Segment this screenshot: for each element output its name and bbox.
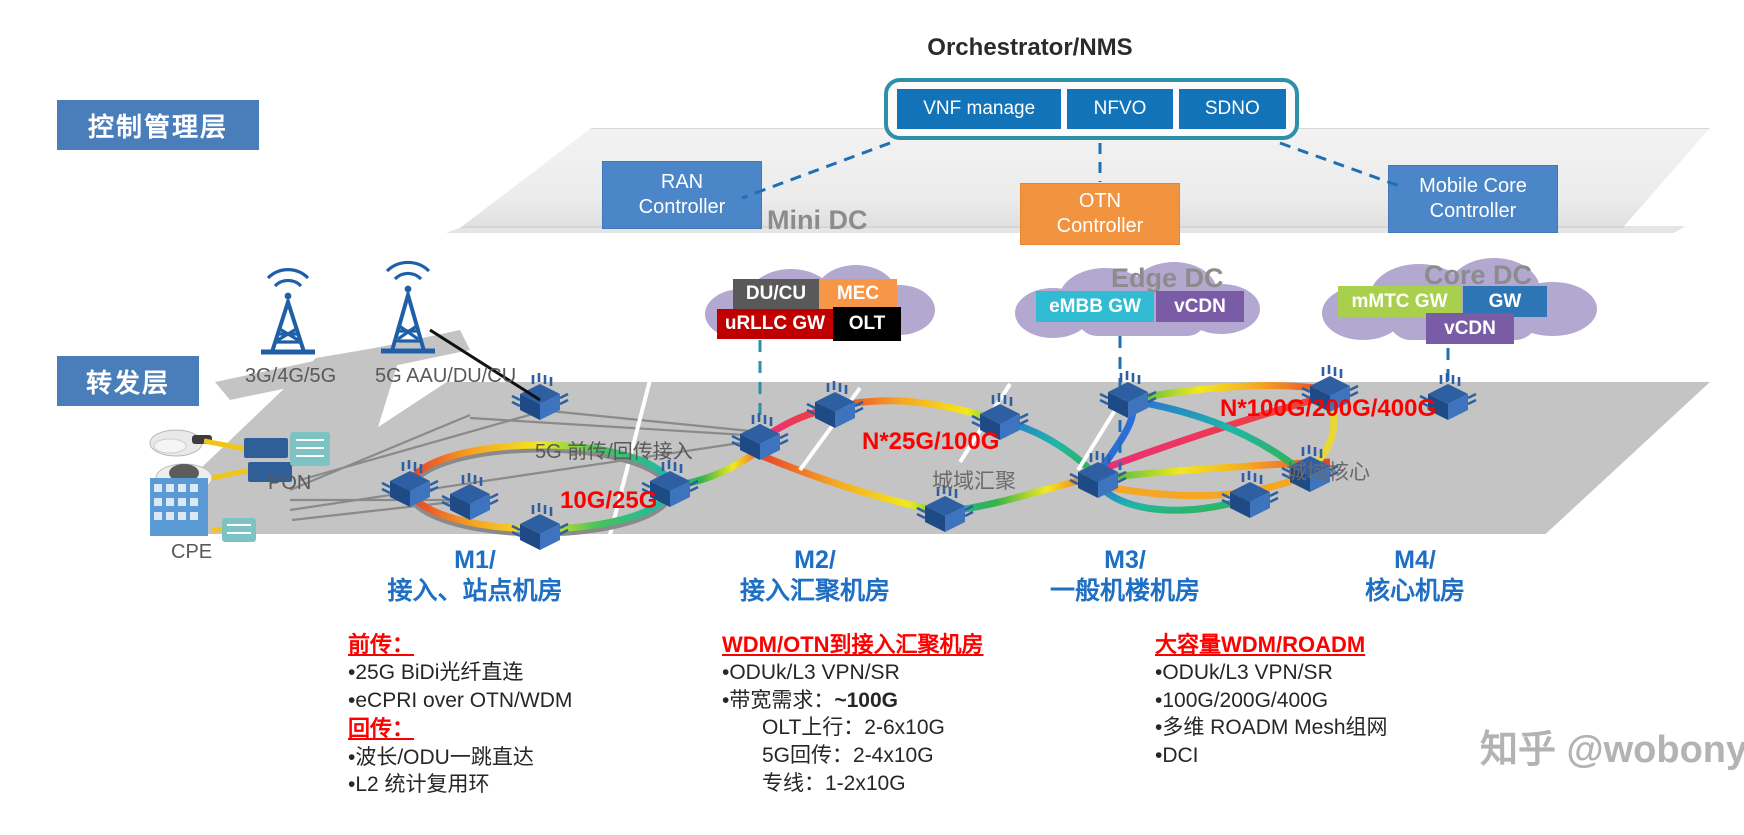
region-metro-core: 城域核心 xyxy=(1286,456,1370,486)
watermark: 知乎 @wobony xyxy=(1480,718,1744,773)
layer-chip-forwarding: 转发层 xyxy=(58,357,198,405)
mobile-core-controller-box[interactable]: Mobile Core Controller xyxy=(1388,165,1558,233)
mini-dc-tag-ducu[interactable]: DU/CU xyxy=(733,279,819,309)
m2-bandwidth-label: •带宽需求： xyxy=(722,689,834,712)
layer-chip-control: 控制管理层 xyxy=(58,101,258,149)
mobile-core-controller-line1: Mobile Core xyxy=(1419,174,1527,199)
otn-controller-line2: Controller xyxy=(1057,214,1144,239)
ran-controller-line1: RAN xyxy=(661,170,703,195)
m2-sub-3: 专线：1-2x10G xyxy=(722,770,1062,798)
m3-notes-block: 大容量WDM/ROADM •ODUk/L3 VPN/SR •100G/200G/… xyxy=(1155,630,1495,770)
m3-item-3: •多维 ROADM Mesh组网 xyxy=(1155,714,1495,742)
site-name-m3: 一般机楼机房 xyxy=(1050,577,1200,605)
m1-item-3: •波长/ODU一跳直达 xyxy=(348,744,668,772)
site-code-m3: M3/ xyxy=(1104,546,1146,574)
ran-controller-line2: Controller xyxy=(639,195,726,220)
m3-item-4: •DCI xyxy=(1155,742,1495,770)
site-code-m4: M4/ xyxy=(1394,546,1436,574)
orchestrator-button-nfvo[interactable]: NFVO xyxy=(1067,89,1172,129)
m3-item-2: •100G/200G/400G xyxy=(1155,687,1495,715)
cpe-label: CPE xyxy=(171,542,197,562)
site-name-m4: 核心机房 xyxy=(1365,577,1465,605)
m2-heading: WDM/OTN到接入汇聚机房 xyxy=(722,630,1062,659)
m2-notes-block: WDM/OTN到接入汇聚机房 •ODUk/L3 VPN/SR •带宽需求：~10… xyxy=(722,630,1062,798)
m3-heading: 大容量WDM/ROADM xyxy=(1155,630,1495,659)
m1-heading-backhaul: 回传： xyxy=(348,714,668,743)
link-speed-n100g-400g: N*100G/200G/400G xyxy=(1220,395,1436,423)
m2-bandwidth-line: •带宽需求：~100G xyxy=(722,687,1062,715)
m2-item-1: •ODUk/L3 VPN/SR xyxy=(722,659,1062,687)
m1-heading-fronthaul: 前传： xyxy=(348,630,668,659)
otn-controller-line1: OTN xyxy=(1079,189,1121,214)
site-name-m2: 接入汇聚机房 xyxy=(740,577,890,605)
site-title-m1: M1/ 接入、站点机房 xyxy=(350,545,600,608)
m1-item-1: •25G BiDi光纤直连 xyxy=(348,659,668,687)
m2-sub-1: OLT上行：2-6x10G xyxy=(722,714,1062,742)
m2-bandwidth-value: ~100G xyxy=(834,689,898,712)
mini-dc-tag-olt[interactable]: OLT xyxy=(833,307,901,341)
layer-chip-control-label: 控制管理层 xyxy=(88,107,228,144)
edge-dc-tag-vcdn[interactable]: vCDN xyxy=(1156,291,1244,322)
site-code-m1: M1/ xyxy=(454,546,496,574)
m1-item-4: •L2 统计复用环 xyxy=(348,771,668,799)
orchestrator-title: Orchestrator/NMS xyxy=(880,34,1180,62)
mobile-core-controller-line2: Controller xyxy=(1430,199,1517,224)
m2-sub-2: 5G回传：2-4x10G xyxy=(722,742,1062,770)
m1-item-2: •eCPRI over OTN/WDM xyxy=(348,687,668,715)
pon-label: PON xyxy=(268,473,298,493)
otn-controller-box[interactable]: OTN Controller xyxy=(1020,183,1180,245)
mini-dc-label: Mini DC xyxy=(767,205,868,236)
orchestrator-box: VNF manage NFVO SDNO xyxy=(884,78,1299,140)
link-speed-10g-25g: 10G/25G xyxy=(560,487,657,515)
edge-dc-label: Edge DC xyxy=(1111,263,1224,294)
m1-notes-block: 前传： •25G BiDi光纤直连 •eCPRI over OTN/WDM 回传… xyxy=(348,630,668,799)
region-metro-aggregation: 城域汇聚 xyxy=(932,465,1016,495)
forwarding-plane-slab xyxy=(215,382,1710,534)
site-title-m2: M2/ 接入汇聚机房 xyxy=(690,545,940,608)
mini-dc-tag-urllc-gw[interactable]: uRLLC GW xyxy=(717,309,833,339)
link-speed-n25g-100g: N*25G/100G xyxy=(862,428,999,456)
tower-3g-label: 3G/4G/5G xyxy=(245,365,336,388)
mini-dc-tag-mec[interactable]: MEC xyxy=(819,279,897,309)
site-name-m1: 接入、站点机房 xyxy=(387,577,562,605)
orchestrator-button-vnf-manage[interactable]: VNF manage xyxy=(897,89,1061,129)
fronthaul-access-label: 5G 前传/回传接入 xyxy=(535,435,693,464)
ran-controller-box[interactable]: RAN Controller xyxy=(602,161,762,229)
diagram-canvas: 控制管理层 转发层 Orchestrator/NMS VNF manage NF… xyxy=(0,0,1744,835)
m3-item-1: •ODUk/L3 VPN/SR xyxy=(1155,659,1495,687)
edge-dc-tag-embb-gw[interactable]: eMBB GW xyxy=(1036,291,1154,322)
site-code-m2: M2/ xyxy=(794,546,836,574)
orchestrator-button-sdno[interactable]: SDNO xyxy=(1179,89,1286,129)
site-title-m4: M4/ 核心机房 xyxy=(1290,545,1540,608)
layer-chip-forwarding-label: 转发层 xyxy=(86,363,170,400)
tower-5g-label: 5G AAU/DU/CU xyxy=(375,365,516,388)
site-title-m3: M3/ 一般机楼机房 xyxy=(1000,545,1250,608)
core-dc-tag-vcdn[interactable]: vCDN xyxy=(1426,313,1514,344)
